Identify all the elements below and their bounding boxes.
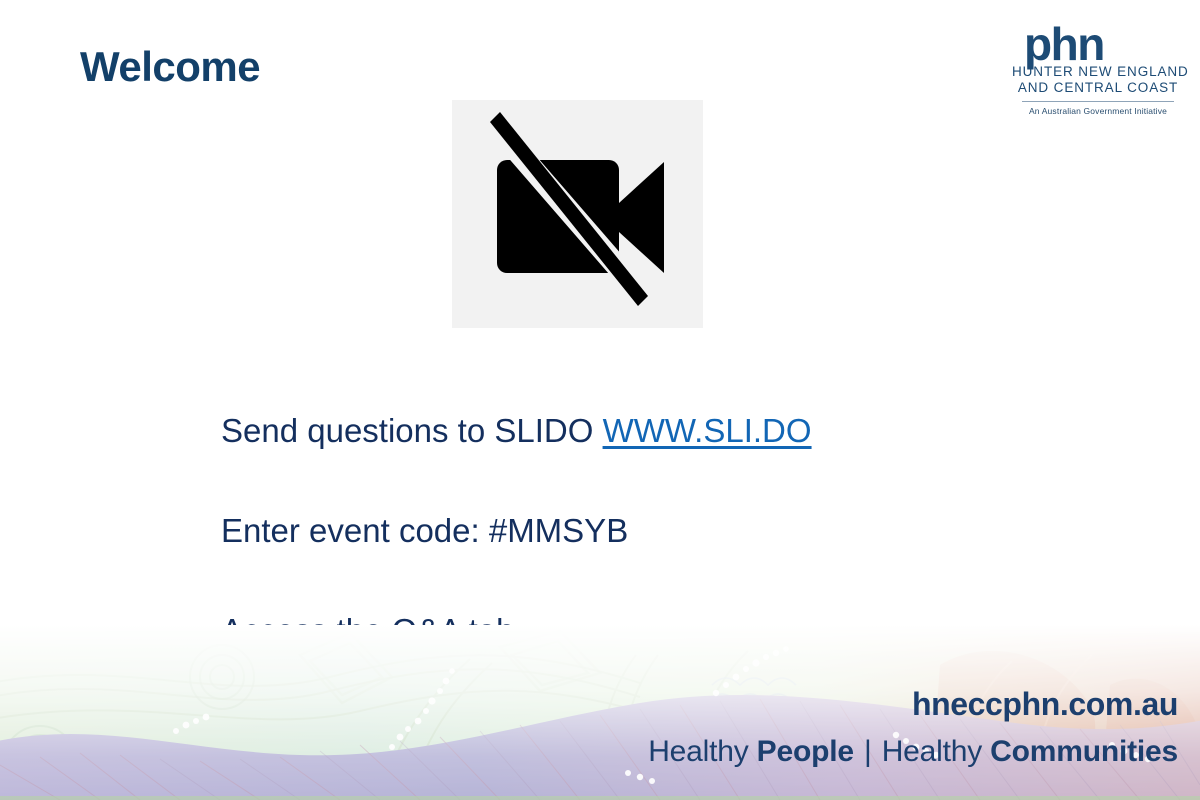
phn-logo-line2: AND CENTRAL COAST <box>1012 80 1184 96</box>
phn-logo-divider <box>1022 101 1174 102</box>
phn-logo-line1: HUNTER NEW ENGLAND <box>1012 64 1184 80</box>
slide-canvas: Welcome phn HUNTER NEW ENGLAND AND CENTR… <box>0 0 1200 800</box>
video-off-card <box>452 100 703 328</box>
tagline-separator: | <box>854 735 882 768</box>
page-title: Welcome <box>80 44 260 90</box>
tagline-healthy-2: Healthy <box>882 735 990 768</box>
video-camera-off-icon <box>452 100 703 328</box>
tagline-communities: Communities <box>990 735 1178 768</box>
footer-website-url: hneccphn.com.au <box>912 686 1178 723</box>
phn-initiative-text: An Australian Government Initiative <box>1012 106 1184 116</box>
slido-instruction-line: Send questions to SLIDO WWW.SLI.DO <box>221 411 812 451</box>
phn-logo: phn HUNTER NEW ENGLAND AND CENTRAL COAST… <box>1012 24 1184 116</box>
tagline-people: People <box>757 735 854 768</box>
footer-tagline: Healthy People | Healthy Communities <box>648 735 1178 769</box>
event-code-line: Enter event code: #MMSYB <box>221 511 628 551</box>
phn-wordmark: phn <box>1012 24 1184 64</box>
slido-link[interactable]: WWW.SLI.DO <box>603 412 812 449</box>
tagline-healthy-1: Healthy <box>648 735 756 768</box>
slido-instruction-text: Send questions to SLIDO <box>221 412 603 449</box>
